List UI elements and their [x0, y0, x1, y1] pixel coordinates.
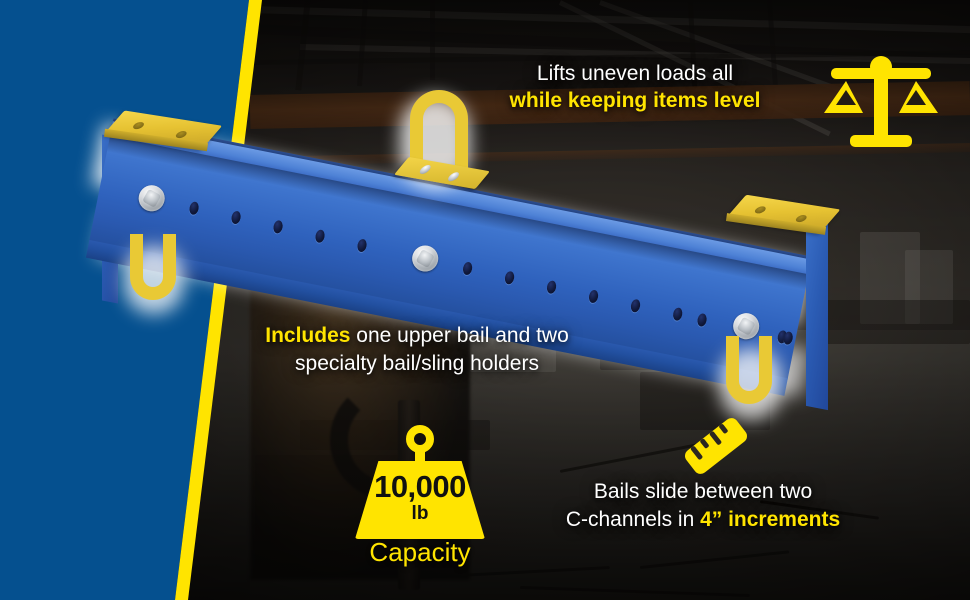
product-feature-banner: Lifts uneven loads all while keeping ite… [0, 0, 970, 600]
beam-bolt [136, 183, 167, 214]
cap-bolt-hole [794, 214, 809, 222]
beam-hole [188, 201, 199, 216]
callout-includes: Includes one upper bail and two specialt… [232, 322, 602, 377]
beam-bolt [410, 243, 441, 274]
beam-hole [672, 307, 683, 322]
callout-includes-line2: specialty bail/sling holders [232, 350, 602, 378]
callout-increments-highlight: 4” increments [700, 508, 840, 531]
beam-hole [230, 210, 241, 225]
capacity-unit: lb [345, 503, 495, 525]
callout-includes-line1: Includes one upper bail and two [232, 322, 602, 350]
callout-increments-line1: Bails slide between two [538, 478, 868, 506]
callout-increments: Bails slide between two C-channels in 4”… [538, 478, 868, 533]
beam-hole [782, 331, 793, 346]
cap-bolt-hole [131, 121, 146, 129]
callout-level-line2: while keeping items level [455, 87, 815, 114]
bail-bolt [418, 164, 433, 174]
beam-hole [696, 313, 707, 328]
callout-includes-rest: one upper bail and two [350, 324, 568, 347]
beam-hole [630, 299, 641, 314]
beam-hole [546, 280, 557, 295]
callout-increments-line2: C-channels in 4” increments [538, 506, 868, 534]
callout-increments-prefix: C-channels in [566, 508, 700, 531]
callout-includes-highlight: Includes [265, 324, 350, 347]
beam-hole [588, 289, 599, 304]
bail-bolt [446, 172, 461, 182]
beam-hole [356, 238, 367, 253]
cap-bolt-hole [174, 130, 189, 138]
sling-holder-bail-right [726, 336, 772, 404]
callout-lifts-level: Lifts uneven loads all while keeping ite… [455, 60, 815, 115]
beam-end-flange-right [806, 216, 828, 410]
capacity-value: 10,000 [345, 469, 495, 505]
sling-holder-bail-left [130, 234, 176, 300]
capacity-badge: 10,000 lb Capacity [345, 425, 495, 555]
beam-hole [272, 220, 283, 235]
cap-bolt-hole [753, 206, 768, 214]
beam-hole [504, 271, 515, 286]
beam-hole [314, 229, 325, 244]
ruler-icon [668, 410, 764, 482]
capacity-label: Capacity [345, 537, 495, 568]
callout-level-line1: Lifts uneven loads all [455, 60, 815, 87]
balance-scale-icon [818, 55, 944, 155]
beam-hole [462, 261, 473, 276]
